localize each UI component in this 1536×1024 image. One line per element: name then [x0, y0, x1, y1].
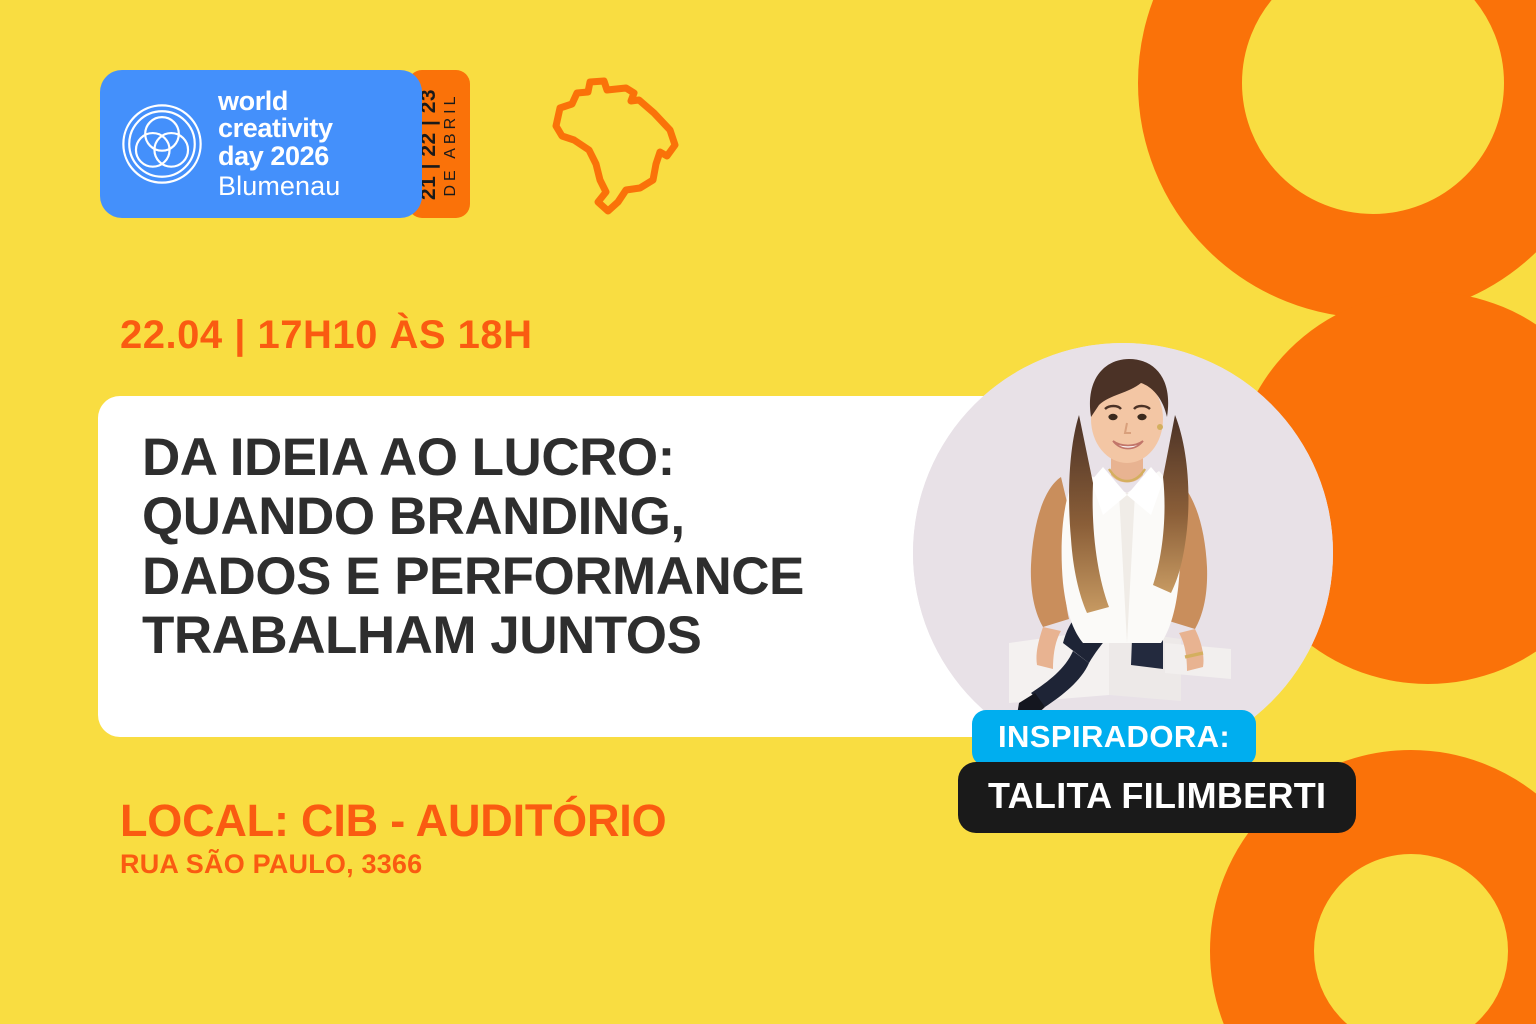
- logo-line-city: Blumenau: [218, 173, 340, 201]
- venue-address: RUA SÃO PAULO, 3366: [120, 849, 666, 880]
- brazil-outline-icon: [534, 68, 704, 228]
- logo-line-creativity: creativity: [218, 115, 340, 143]
- logo-line-day-2026: day 2026: [218, 143, 340, 171]
- triquetra-circles-logo-icon: [120, 102, 204, 186]
- logo-line-world: world: [218, 88, 340, 116]
- logo-wordmark: world creativity day 2026 Blumenau: [218, 88, 340, 200]
- venue-name: LOCAL: CIB - AUDITÓRIO: [120, 798, 666, 843]
- speaker-name: TALITA FILIMBERTI: [988, 775, 1326, 816]
- event-poster: world creativity day 2026 Blumenau 21 | …: [0, 0, 1536, 1024]
- orange-ring-top-decoration: [1138, 0, 1536, 318]
- speaker-photo: [913, 343, 1333, 763]
- talk-time: 22.04 | 17H10 ÀS 18H: [120, 313, 533, 358]
- date-tab-text: 21 | 22 | 23 DE ABRIL: [418, 88, 461, 199]
- speaker-name-plate: TALITA FILIMBERTI: [958, 762, 1356, 833]
- speaker-role-plate: INSPIRADORA:: [972, 710, 1256, 766]
- speaker-role-label: INSPIRADORA:: [998, 719, 1230, 754]
- talk-title: DA IDEIA AO LUCRO: QUANDO BRANDING, DADO…: [142, 428, 804, 665]
- date-tab-month: DE ABRIL: [443, 88, 461, 199]
- seated-woman-portrait-illustration: [913, 343, 1333, 763]
- logo-plate: world creativity day 2026 Blumenau: [100, 70, 422, 218]
- event-logo-badge: world creativity day 2026 Blumenau 21 | …: [100, 70, 470, 218]
- venue-block: LOCAL: CIB - AUDITÓRIO RUA SÃO PAULO, 33…: [120, 798, 666, 880]
